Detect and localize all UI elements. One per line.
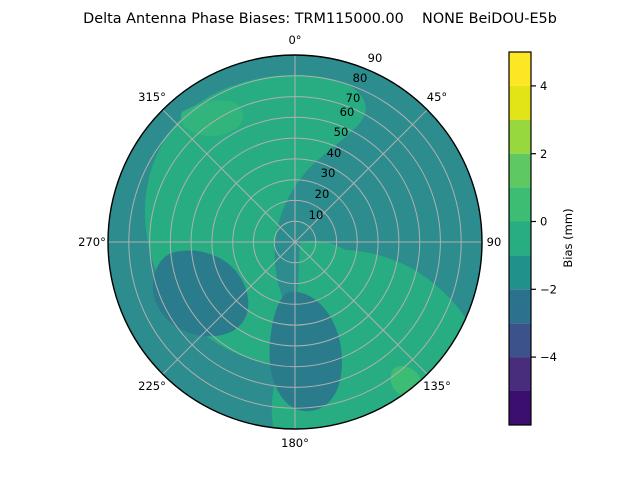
colorbar-band-5	[509, 222, 531, 256]
radial-tick-70: 70	[346, 91, 361, 105]
page-title: Delta Antenna Phase Biases: TRM115000.00…	[0, 10, 640, 28]
radial-tick-60: 60	[340, 105, 355, 119]
colorbar-tick-label-neg2: −2	[540, 282, 557, 296]
colorbar-band-0	[509, 391, 531, 425]
angular-tick-45: 45°	[427, 90, 447, 104]
colorbar-band-9	[509, 86, 531, 120]
colorbar-ticks	[531, 86, 536, 357]
radial-tick-40: 40	[327, 146, 342, 160]
polar-grid	[108, 55, 482, 429]
colorbar-band-1	[509, 357, 531, 391]
colorbar-band-2	[509, 323, 531, 357]
figure-canvas: Delta Antenna Phase Biases: TRM115000.00…	[0, 0, 640, 480]
colorbar-band-8	[509, 120, 531, 154]
colorbar-tick-label-0: 0	[540, 215, 547, 229]
colorbar-band-4	[509, 255, 531, 289]
angular-tick-135: 135°	[423, 379, 451, 393]
colorbar-band-6	[509, 188, 531, 222]
angular-tick-225: 225°	[138, 379, 166, 393]
angular-tick-0: 0°	[288, 33, 301, 47]
angular-tick-315: 315°	[138, 90, 166, 104]
colorbar-axis-title: Bias (mm)	[561, 208, 575, 267]
colorbar-tick-label-2: 2	[540, 147, 547, 161]
angular-tick-90: 90	[487, 235, 502, 249]
colorbar-tick-label-neg4: −4	[540, 350, 557, 364]
radial-tick-80: 80	[353, 71, 368, 85]
angular-tick-180: 180°	[281, 436, 309, 450]
angular-tick-270: 270°	[78, 235, 106, 249]
radial-tick-20: 20	[315, 187, 330, 201]
polar-plot-svg: 0° 45° 90 135° 180° 225° 270° 315° 10 20…	[0, 0, 640, 480]
colorbar-tick-labels: 4 2 0 −2 −4	[540, 79, 557, 364]
radial-tick-90: 90	[368, 51, 383, 65]
colorbar-bands	[509, 52, 531, 425]
colorbar-band-10	[509, 52, 531, 86]
radial-tick-10: 10	[309, 208, 324, 222]
radial-tick-50: 50	[334, 125, 349, 139]
radial-tick-30: 30	[321, 166, 336, 180]
colorbar-band-7	[509, 154, 531, 188]
colorbar[interactable]: 4 2 0 −2 −4 Bias (mm)	[509, 52, 575, 425]
colorbar-tick-label-4: 4	[540, 79, 547, 93]
colorbar-band-3	[509, 289, 531, 323]
